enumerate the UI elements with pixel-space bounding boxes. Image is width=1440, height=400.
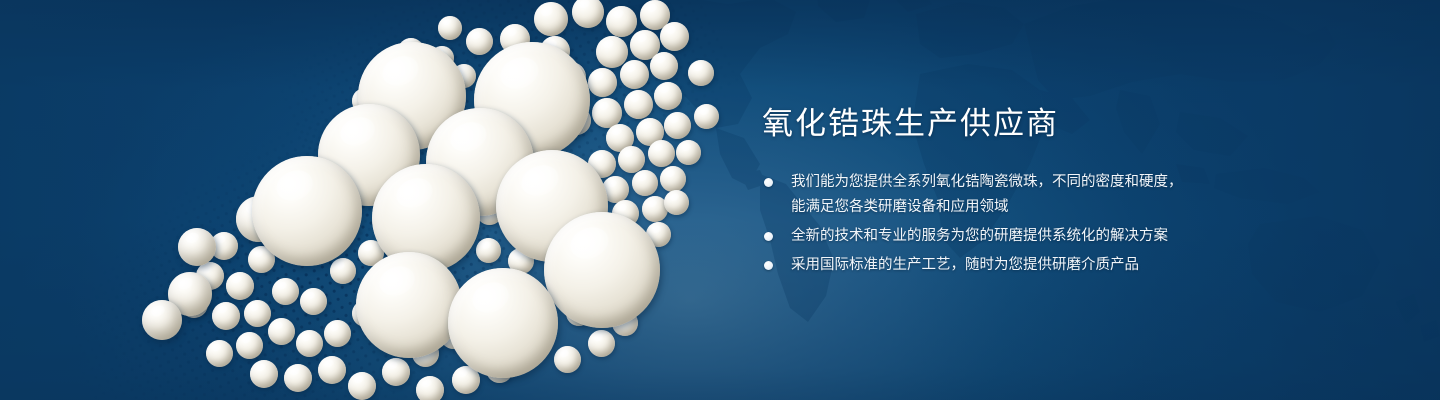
list-item: 全新的技术和专业的服务为您的研磨提供系统化的解决方案 [762,224,1232,249]
bullet-line-2: 能满足您各类研磨设备和应用领域 [791,195,1232,220]
bullet-line-1: 采用国际标准的生产工艺，随时为您提供研磨介质产品 [791,257,1139,273]
bullet-dot-icon [764,178,773,187]
feature-bullet-list: 我们能为您提供全系列氧化锆陶瓷微珠，不同的密度和硬度， 能满足您各类研磨设备和应… [762,170,1232,278]
bullet-dot-icon [764,261,773,270]
list-item: 采用国际标准的生产工艺，随时为您提供研磨介质产品 [762,253,1232,278]
bullet-dot-icon [764,232,773,241]
list-item: 我们能为您提供全系列氧化锆陶瓷微珠，不同的密度和硬度， 能满足您各类研磨设备和应… [762,170,1232,220]
page-title: 氧化锆珠生产供应商 [762,104,1232,144]
bullet-line-1: 我们能为您提供全系列氧化锆陶瓷微珠，不同的密度和硬度， [791,174,1183,190]
hero-banner: 氧化锆珠生产供应商 我们能为您提供全系列氧化锆陶瓷微珠，不同的密度和硬度， 能满… [0,0,1440,400]
bullet-line-1: 全新的技术和专业的服务为您的研磨提供系统化的解决方案 [791,228,1168,244]
banner-content: 氧化锆珠生产供应商 我们能为您提供全系列氧化锆陶瓷微珠，不同的密度和硬度， 能满… [762,104,1232,282]
